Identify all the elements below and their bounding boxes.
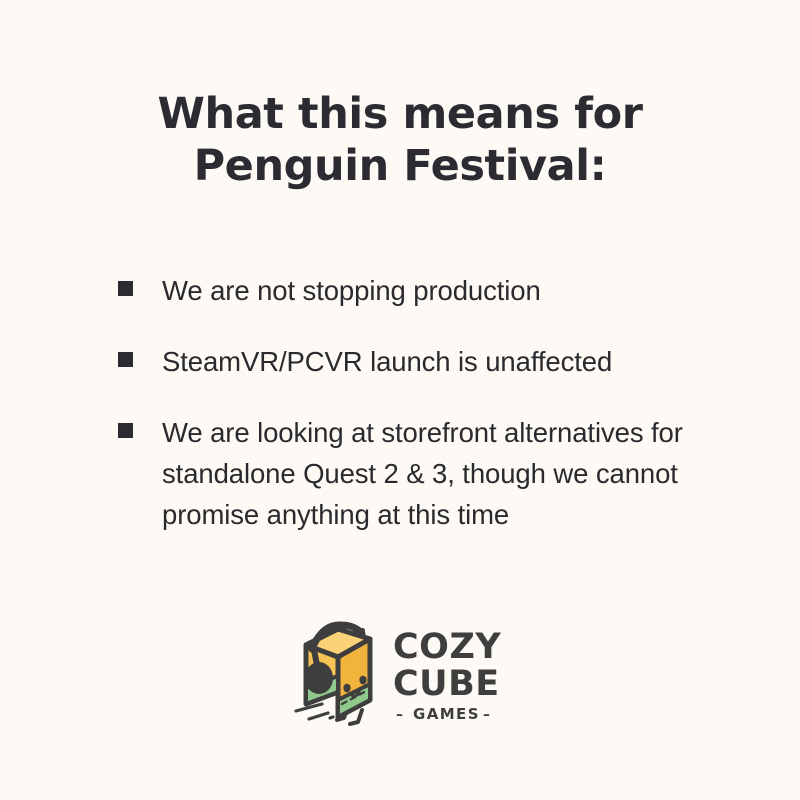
eye-left-icon [343,684,350,693]
logo-tagline-label: GAMES [413,705,480,723]
list-item: We are looking at storefront alternative… [118,412,738,535]
headphone-nub-icon [355,628,365,637]
headphone-earcup-icon [305,662,333,694]
cozy-cube-games-logo: COZY CUBE – GAMES – [292,612,508,730]
page-title: What this means for Penguin Festival: [0,88,800,192]
list-item-label: We are not stopping production [162,270,727,311]
logo-wordmark-line-1: COZY [393,627,501,667]
logo-tagline-dash-right: – [483,707,490,723]
logo-wordmark-line-2: CUBE [393,664,500,704]
list-item: We are not stopping production [118,270,738,311]
page-title-line-1: What this means for [0,88,800,140]
page-title-line-2: Penguin Festival: [0,140,800,192]
bullet-list: We are not stopping production SteamVR/P… [118,270,738,535]
bullet-square-icon [118,423,133,438]
logo-wordmark: COZY CUBE [393,627,501,704]
motion-dash-icon [296,704,333,719]
slide-canvas: What this means for Penguin Festival: We… [0,0,800,800]
bullet-square-icon [118,281,133,296]
cube-mascot-icon [305,625,370,717]
list-item: SteamVR/PCVR launch is unaffected [118,341,738,382]
list-item-label: SteamVR/PCVR launch is unaffected [162,341,727,382]
logo-tagline: – GAMES – [396,705,490,723]
list-item-label: We are looking at storefront alternative… [162,412,727,535]
logo-tagline-dash-left: – [396,707,403,723]
bullet-square-icon [118,352,133,367]
eye-right-icon [359,676,366,685]
